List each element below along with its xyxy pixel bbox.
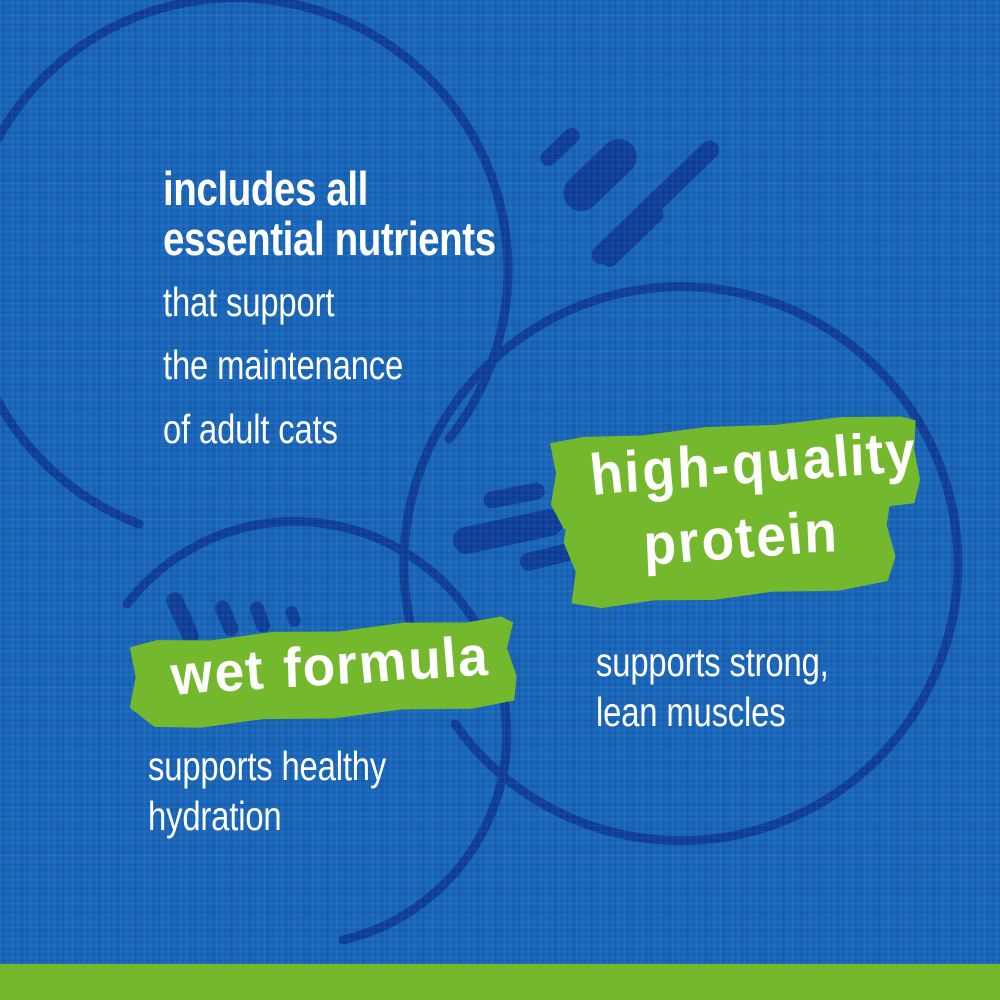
wet-subtext-line-2: hydration xyxy=(148,792,386,842)
nutrients-headline-line-1: includes all xyxy=(163,164,496,214)
protein-text-block: supports strong, lean muscles xyxy=(596,638,887,737)
benefits-panel: includes all essential nutrients that su… xyxy=(0,0,1000,1000)
protein-banner-label-line-2: protein xyxy=(640,503,840,575)
nutrients-headline-line-2: essential nutrients xyxy=(163,214,496,264)
nutrients-subtext-line-1: that support xyxy=(163,278,488,328)
circle-bottom-left xyxy=(127,522,507,940)
bottom-green-band xyxy=(0,964,1000,1000)
high-quality-protein-banner: high-quality protein xyxy=(546,411,928,616)
wet-formula-text-block: supports healthy hydration xyxy=(148,742,446,841)
nutrients-subtext-line-2: the maintenance xyxy=(163,341,488,391)
protein-subtext-line-2: lean muscles xyxy=(596,688,829,738)
nutrients-text-block: includes all essential nutrients that su… xyxy=(163,164,569,454)
wet-subtext-line-1: supports healthy xyxy=(148,742,386,792)
protein-subtext-line-1: supports strong, xyxy=(596,638,829,688)
nutrients-subtext-line-3: of adult cats xyxy=(163,405,488,455)
